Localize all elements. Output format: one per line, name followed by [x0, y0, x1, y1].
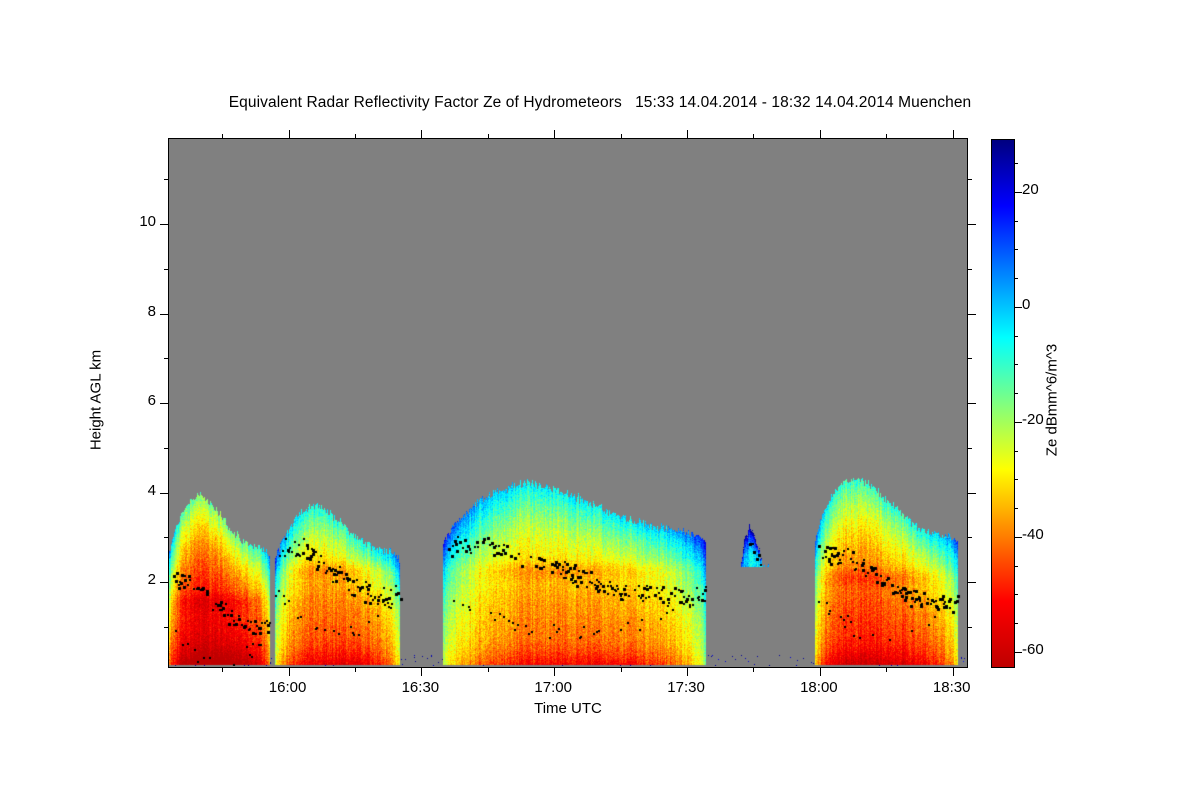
x-axis-label: 17:00 [513, 679, 593, 696]
y-axis-minor-tick [967, 537, 972, 538]
x-axis-minor-tick [355, 667, 356, 672]
y-axis-minor-tick [967, 358, 972, 359]
colorbar-minor-tick [1014, 623, 1018, 624]
y-axis-label: 10 [116, 213, 156, 230]
y-axis-minor-tick [164, 358, 169, 359]
x-axis-tick [687, 130, 688, 139]
colorbar-minor-tick [1014, 479, 1018, 480]
colorbar-title: Ze dBmm^6/m^3 [1044, 344, 1061, 456]
y-axis-tick [967, 314, 976, 315]
y-axis-minor-tick [164, 269, 169, 270]
colorbar-minor-tick [1014, 364, 1018, 365]
x-axis-tick [687, 667, 688, 676]
y-axis-minor-tick [967, 448, 972, 449]
x-axis-minor-tick [753, 667, 754, 672]
colorbar [991, 139, 1015, 668]
y-axis-tick [160, 403, 169, 404]
x-axis-minor-tick [488, 667, 489, 672]
y-axis-minor-tick [164, 537, 169, 538]
y-axis-minor-tick [164, 627, 169, 628]
x-axis-tick [953, 130, 954, 139]
y-axis-tick [967, 582, 976, 583]
colorbar-minor-tick [1014, 451, 1018, 452]
colorbar-minor-tick [1014, 594, 1018, 595]
y-axis-label: 4 [116, 482, 156, 499]
x-axis-minor-tick [753, 134, 754, 139]
x-axis-tick [953, 667, 954, 676]
x-axis-tick [421, 667, 422, 676]
x-axis-tick [421, 130, 422, 139]
y-axis-tick [967, 224, 976, 225]
colorbar-tick [1014, 422, 1022, 423]
y-axis-tick [160, 493, 169, 494]
y-axis-label: 2 [116, 571, 156, 588]
colorbar-minor-tick [1014, 336, 1018, 337]
x-axis-minor-tick [355, 134, 356, 139]
plot-area [168, 138, 968, 668]
y-axis-minor-tick [967, 269, 972, 270]
reflectivity-heatmap [169, 139, 966, 666]
x-axis-label: 16:00 [248, 679, 328, 696]
y-axis-tick [160, 314, 169, 315]
x-axis-tick [554, 667, 555, 676]
colorbar-tick-label: -20 [1022, 411, 1044, 428]
x-axis-label: 18:30 [912, 679, 992, 696]
y-axis-tick [967, 493, 976, 494]
colorbar-minor-tick [1014, 278, 1018, 279]
y-axis-minor-tick [164, 448, 169, 449]
x-axis-tick [820, 130, 821, 139]
x-axis-tick [289, 667, 290, 676]
y-axis-tick [160, 582, 169, 583]
x-axis-minor-tick [222, 134, 223, 139]
y-axis-minor-tick [967, 627, 972, 628]
x-axis-label: 18:00 [779, 679, 859, 696]
x-axis-minor-tick [621, 667, 622, 672]
x-axis-minor-tick [886, 134, 887, 139]
colorbar-tick [1014, 537, 1022, 538]
x-axis-label: 16:30 [380, 679, 460, 696]
colorbar-minor-tick [1014, 566, 1018, 567]
colorbar-minor-tick [1014, 249, 1018, 250]
x-axis-label: 17:30 [646, 679, 726, 696]
x-axis-minor-tick [488, 134, 489, 139]
y-axis-title: Height AGL km [88, 350, 105, 450]
x-axis-minor-tick [886, 667, 887, 672]
x-axis-tick [289, 130, 290, 139]
colorbar-minor-tick [1014, 393, 1018, 394]
colorbar-tick-label: 20 [1022, 181, 1039, 198]
colorbar-tick [1014, 652, 1022, 653]
y-axis-minor-tick [967, 179, 972, 180]
colorbar-gradient [992, 140, 1014, 667]
colorbar-tick-label: -40 [1022, 526, 1044, 543]
y-axis-label: 6 [116, 392, 156, 409]
x-axis-title: Time UTC [534, 700, 602, 717]
y-axis-tick [967, 403, 976, 404]
x-axis-minor-tick [222, 667, 223, 672]
colorbar-tick-label: -60 [1022, 641, 1044, 658]
colorbar-tick-label: 0 [1022, 296, 1030, 313]
colorbar-minor-tick [1014, 221, 1018, 222]
x-axis-minor-tick [621, 134, 622, 139]
colorbar-minor-tick [1014, 163, 1018, 164]
radar-plot-figure: Equivalent Radar Reflectivity Factor Ze … [0, 0, 1200, 800]
x-axis-tick [554, 130, 555, 139]
x-axis-tick [820, 667, 821, 676]
colorbar-minor-tick [1014, 508, 1018, 509]
figure-title: Equivalent Radar Reflectivity Factor Ze … [0, 94, 1200, 112]
y-axis-minor-tick [164, 179, 169, 180]
colorbar-tick [1014, 307, 1022, 308]
y-axis-tick [160, 224, 169, 225]
colorbar-tick [1014, 192, 1022, 193]
y-axis-label: 8 [116, 303, 156, 320]
